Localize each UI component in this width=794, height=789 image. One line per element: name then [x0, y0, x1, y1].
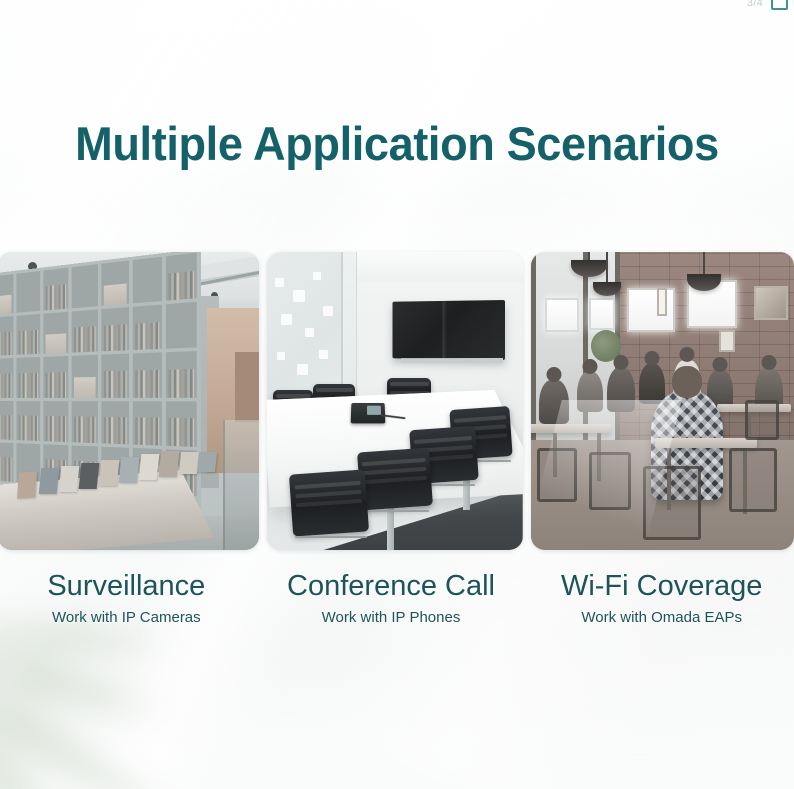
metal-chair [745, 400, 779, 440]
slide-content: Multiple Application Scenarios [0, 0, 794, 789]
caption-wifi-coverage: Wi-Fi Coverage Work with Omada EAPs [529, 568, 794, 628]
window [589, 298, 615, 330]
page-title: Multiple Application Scenarios [16, 118, 778, 170]
page-indicator: 3/4 [747, 0, 763, 9]
wall-art [754, 286, 788, 320]
scenario-card-surveillance[interactable] [0, 252, 259, 550]
pendant-rod [606, 252, 608, 284]
window [545, 298, 579, 332]
ip-conference-phone [351, 403, 386, 423]
frame-icon[interactable] [771, 0, 788, 10]
tv-mount [401, 358, 503, 363]
caption-title: Surveillance [0, 568, 259, 604]
caption-conference-call: Conference Call Work with IP Phones [259, 568, 524, 628]
glass-railing [223, 420, 259, 550]
book [59, 466, 80, 492]
scenario-card-conference-call[interactable] [267, 252, 522, 550]
wall-art [657, 288, 667, 316]
phone-screen [367, 406, 381, 415]
caption-surveillance: Surveillance Work with IP Cameras [0, 568, 259, 628]
pendant-rod [703, 252, 705, 276]
book [139, 454, 160, 480]
chair-base [295, 536, 367, 538]
wall-mounted-tv [392, 300, 505, 360]
caption-subtitle: Work with IP Cameras [0, 608, 259, 628]
book [119, 457, 140, 483]
book [17, 471, 37, 498]
scenario-captions: Surveillance Work with IP Cameras Confer… [0, 568, 794, 628]
book [39, 468, 60, 494]
book [99, 460, 120, 486]
window-mullion [531, 252, 536, 452]
cafe-coworking-photo [531, 252, 794, 550]
book [197, 452, 217, 472]
wood-panel [235, 352, 259, 422]
person [639, 364, 665, 404]
caption-title: Wi-Fi Coverage [529, 568, 794, 604]
book [159, 451, 180, 477]
scenario-card-wifi-coverage[interactable] [531, 252, 794, 550]
conference-room-photo [267, 252, 522, 550]
caption-title: Conference Call [259, 568, 524, 604]
book [79, 463, 100, 489]
chair [289, 469, 369, 536]
scenario-card-list [4, 252, 794, 550]
top-toolbar: 3/4 [747, 0, 788, 14]
window [627, 288, 675, 332]
wall-art [719, 330, 735, 352]
library-photo [0, 252, 259, 550]
chair-base [363, 510, 429, 512]
caption-subtitle: Work with Omada EAPs [529, 608, 794, 628]
metal-chair [729, 448, 777, 512]
chair [357, 448, 433, 511]
caption-subtitle: Work with IP Phones [259, 608, 524, 628]
